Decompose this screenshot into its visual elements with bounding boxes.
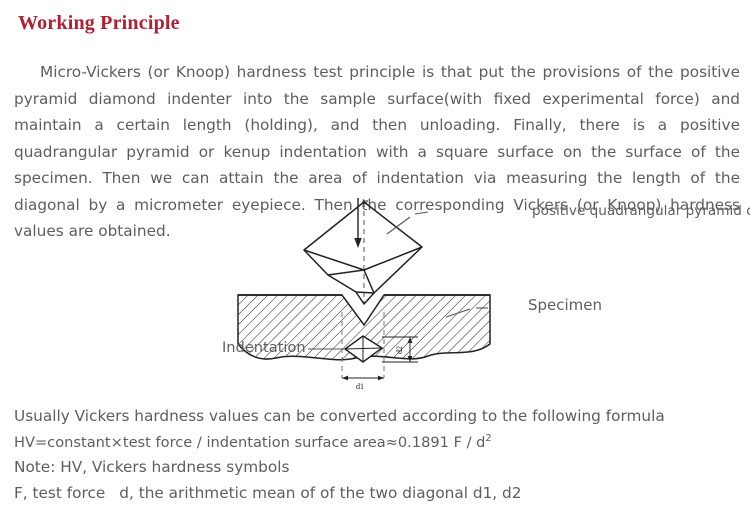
legend-force: F, test force [14, 484, 105, 502]
hardness-test-diagram-svg: F [232, 192, 532, 397]
legend-line: F, test forced, the arithmetic mean of o… [14, 481, 744, 507]
document-page: Working Principle Micro-Vickers (or Knoo… [0, 0, 750, 529]
page-title: Working Principle [18, 12, 180, 35]
note-line: Note: HV, Vickers hardness symbols [14, 455, 744, 481]
leader-line-indenter-tail [415, 212, 428, 214]
caption-indenter: positive quadrangular pyramid diamond in… [532, 203, 750, 219]
caption-indentation: Indentation [222, 339, 306, 356]
d2-label: d2 [395, 346, 404, 354]
caption-specimen: Specimen [528, 296, 602, 314]
formula-expression: HV=constant×test force / indentation sur… [14, 434, 485, 451]
formula-exponent: 2 [485, 433, 491, 444]
d1-label: d1 [356, 382, 364, 391]
d1-dimension [342, 376, 384, 381]
pyramid-indenter-icon [304, 202, 422, 304]
formula-line: HV=constant×test force / indentation sur… [14, 430, 744, 456]
hardness-test-diagram: F [232, 192, 532, 397]
formula-block: Usually Vickers hardness values can be c… [14, 404, 744, 506]
leader-line-indenter [387, 217, 410, 234]
formula-intro-line: Usually Vickers hardness values can be c… [14, 404, 744, 430]
legend-diagonal: d, the arithmetic mean of of the two dia… [119, 484, 521, 502]
